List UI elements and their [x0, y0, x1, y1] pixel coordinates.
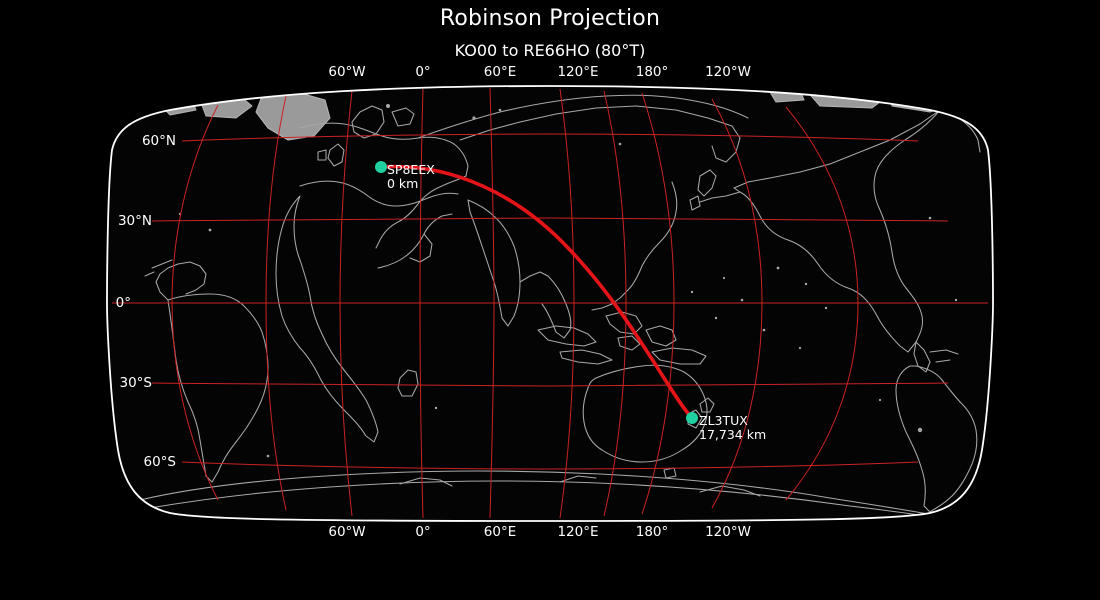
- map-figure: Robinson Projection KO00 to RE66HO (80°T…: [0, 0, 1100, 600]
- station-marker-zl3tux[interactable]: [686, 412, 698, 424]
- map-body: [100, 80, 1000, 530]
- lon-label-bottom-2: 60°E: [484, 524, 516, 540]
- lon-label-top-4: 180°: [636, 64, 669, 80]
- lat-label-30s: 30°S: [120, 375, 153, 391]
- station-marker-sp8eex[interactable]: [375, 161, 387, 173]
- lon-label-bottom-4: 180°: [636, 524, 669, 540]
- lon-label-top-2: 60°E: [484, 64, 516, 80]
- map-background: [100, 80, 1000, 530]
- lon-label-top-3: 120°E: [557, 64, 598, 80]
- lat-label-30n: 30°N: [118, 213, 152, 229]
- lat-label-60n: 60°N: [142, 133, 176, 149]
- lon-label-bottom-1: 0°: [415, 524, 430, 540]
- lon-label-bottom-3: 120°E: [557, 524, 598, 540]
- lon-label-bottom-0: 60°W: [328, 524, 365, 540]
- lat-label-0: 0°: [116, 295, 131, 311]
- map-canvas: [0, 0, 1100, 600]
- lon-label-bottom-5: 120°W: [705, 524, 751, 540]
- lon-label-top-1: 0°: [415, 64, 430, 80]
- lon-label-top-0: 60°W: [328, 64, 365, 80]
- lon-label-top-5: 120°W: [705, 64, 751, 80]
- lat-label-60s: 60°S: [144, 454, 177, 470]
